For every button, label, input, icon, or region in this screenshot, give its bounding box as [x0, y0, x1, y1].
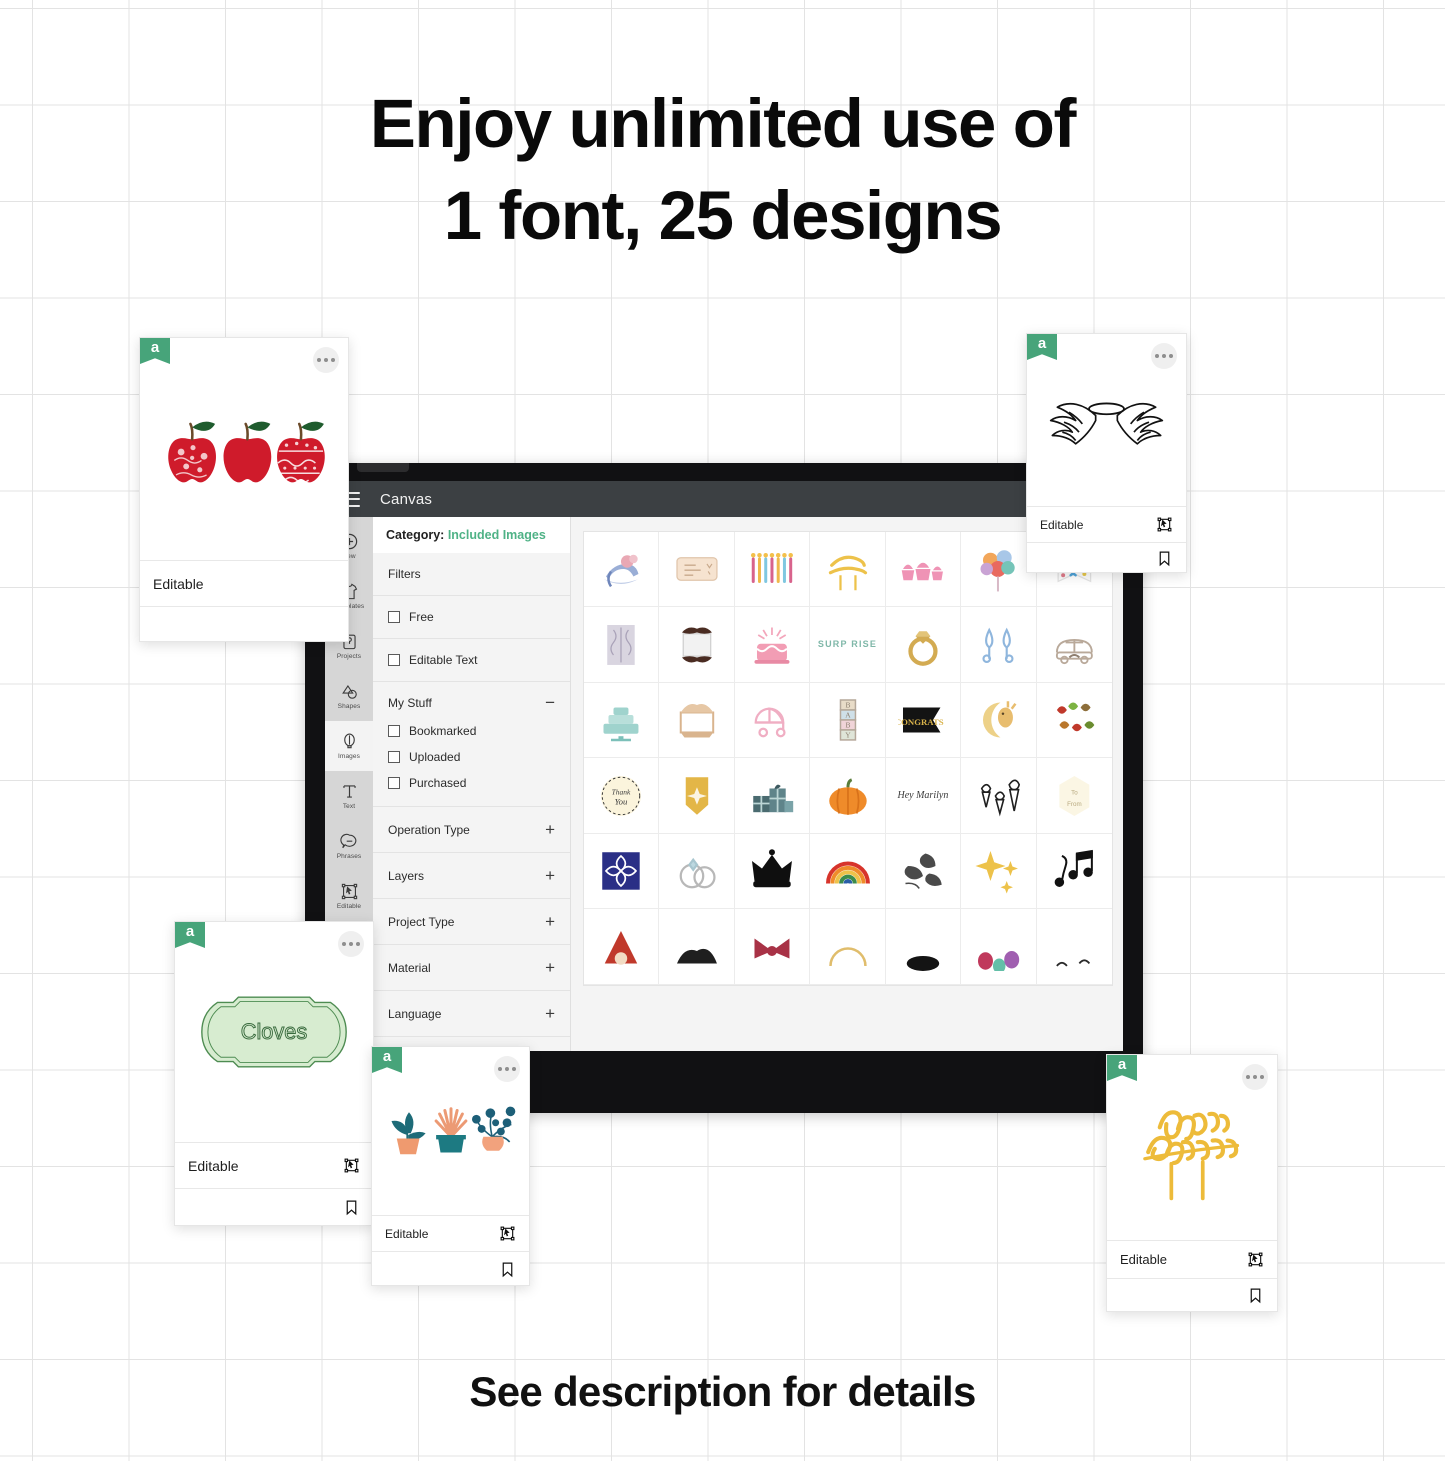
sidebar-item-phrases[interactable]: Phrases: [325, 821, 373, 871]
filters-title: Filters: [388, 567, 421, 581]
design-card-plants[interactable]: a: [371, 1046, 530, 1286]
three-apples-art: [140, 338, 348, 560]
checkbox-free[interactable]: [388, 611, 400, 623]
balloon-icon: [340, 732, 359, 751]
my-stuff-title: My Stuff: [388, 696, 432, 710]
sidebar-label: Images: [338, 753, 360, 760]
grid-item-cupcakes[interactable]: [886, 532, 961, 607]
card-options-icon[interactable]: [338, 931, 364, 957]
filter-label: Purchased: [409, 776, 466, 790]
sidebar-label: Projects: [337, 653, 361, 660]
sidebar-label: Phrases: [337, 853, 362, 860]
grid-item-tiered-cake[interactable]: [584, 683, 659, 758]
sidebar-label: Editable: [337, 903, 361, 910]
svg-text:CONGRATS: CONGRATS: [898, 717, 944, 727]
grid-item-happy-birthday-topper[interactable]: [810, 532, 885, 607]
grid-item-blue-damask[interactable]: [584, 834, 659, 909]
sidebar-label: Shapes: [338, 703, 361, 710]
grid-item-ornate-frame[interactable]: [659, 607, 734, 682]
sidebar-item-shapes[interactable]: Shapes: [325, 671, 373, 721]
svg-text:B: B: [845, 721, 850, 730]
editable-label: Editable: [1040, 518, 1083, 532]
checkbox-uploaded[interactable]: [388, 751, 400, 763]
grid-item-gift-boxes[interactable]: [735, 758, 810, 833]
card-bookmark-row[interactable]: [1027, 542, 1186, 573]
grid-item-ice-cream-cones[interactable]: [961, 758, 1036, 833]
card-bookmark-row[interactable]: [372, 1251, 529, 1286]
design-card-cloves[interactable]: a Cloves Editable: [174, 921, 374, 1226]
card-meta-row: Editable: [175, 1142, 373, 1188]
checkbox-editable-text[interactable]: [388, 654, 400, 666]
editable-label: Editable: [385, 1227, 428, 1241]
grid-item-thank-you-seal[interactable]: ThankYou: [584, 758, 659, 833]
editable-label: Editable: [1120, 1252, 1167, 1267]
grid-item-autumn-leaves[interactable]: [1037, 683, 1112, 758]
grid-item-red-bow[interactable]: [735, 909, 810, 984]
grid-item-to-from-tag[interactable]: ToFrom: [1037, 758, 1112, 833]
promo-canvas: Enjoy unlimited use of 1 font, 25 design…: [0, 0, 1445, 1461]
image-results-area: SURP RISE BABY CONGRATS ThankYou: [571, 517, 1123, 1051]
expand-toggle[interactable]: +: [545, 913, 555, 930]
section-material[interactable]: Material +: [373, 945, 570, 991]
filter-label: Bookmarked: [409, 724, 476, 738]
filter-uploaded[interactable]: Uploaded: [388, 744, 555, 770]
tablet-screen: Canvas New Templates Projects: [325, 481, 1123, 1051]
image-grid: SURP RISE BABY CONGRATS ThankYou: [583, 531, 1113, 986]
expand-toggle[interactable]: +: [545, 959, 555, 976]
section-label: Language: [388, 1007, 441, 1021]
filter-panel: Category: Included Images Filters Free E…: [373, 517, 571, 1051]
filter-purchased[interactable]: Purchased: [388, 770, 555, 796]
card-bookmark-row[interactable]: [175, 1188, 373, 1226]
grid-item-champagne-glasses[interactable]: [961, 607, 1036, 682]
grid-item-leaf-pair[interactable]: [886, 834, 961, 909]
grid-item-congrats-pennant[interactable]: CONGRATS: [886, 683, 961, 758]
section-label: Layers: [388, 869, 424, 883]
sidebar-item-editable[interactable]: Editable: [325, 871, 373, 921]
card-bookmark-row[interactable]: [1107, 1278, 1277, 1312]
category-bar: Category: Included Images: [373, 517, 570, 553]
grid-item-wedding-car[interactable]: [1037, 607, 1112, 682]
section-language[interactable]: Language +: [373, 991, 570, 1037]
grid-item-gift-tag[interactable]: [659, 532, 734, 607]
svg-text:Thank: Thank: [612, 787, 631, 796]
card-options-icon[interactable]: [1242, 1064, 1268, 1090]
category-label: Category:: [386, 528, 444, 542]
section-label: Material: [388, 961, 431, 975]
bookmark-icon[interactable]: [1156, 550, 1173, 567]
app-title: Canvas: [380, 491, 432, 508]
footer-text: See description for details: [0, 1368, 1445, 1416]
section-layers[interactable]: Layers +: [373, 853, 570, 899]
checkbox-purchased[interactable]: [388, 777, 400, 789]
grid-item-lace-panel[interactable]: [584, 607, 659, 682]
section-label: Project Type: [388, 915, 454, 929]
grid-item-baby-pram[interactable]: [735, 683, 810, 758]
editable-nodes-icon[interactable]: [499, 1225, 516, 1242]
grid-item-dark-floral[interactable]: [659, 909, 734, 984]
grid-item-surprise-letters[interactable]: SURP RISE: [810, 607, 885, 682]
grid-item-giraffe-moon[interactable]: [961, 683, 1036, 758]
grid-item-rainbow[interactable]: [810, 834, 885, 909]
card-options-icon[interactable]: [494, 1056, 520, 1082]
design-card-happy-birthday[interactable]: a: [1106, 1054, 1278, 1312]
grid-item-party-balloons[interactable]: [961, 909, 1036, 984]
svg-text:A: A: [845, 711, 851, 720]
grid-item-gold-arch[interactable]: [810, 909, 885, 984]
svg-text:From: From: [1067, 801, 1082, 808]
sidebar-item-text[interactable]: Text: [325, 771, 373, 821]
grid-item-birthday-cake[interactable]: [735, 607, 810, 682]
grid-item-black-brush[interactable]: [886, 909, 961, 984]
grid-item-birthday-candles[interactable]: [735, 532, 810, 607]
tablet-camera-notch: [357, 463, 409, 472]
filter-free[interactable]: Free: [373, 596, 570, 639]
expand-toggle[interactable]: +: [545, 867, 555, 884]
filters-title-row: Filters: [373, 553, 570, 596]
grid-item-hey-marilyn-script[interactable]: Hey Marilyn: [886, 758, 961, 833]
grid-item-bird-pair[interactable]: [1037, 909, 1112, 984]
collapse-toggle[interactable]: −: [545, 694, 555, 711]
card-meta-row: Editable: [1107, 1240, 1277, 1278]
expand-toggle[interactable]: +: [545, 821, 555, 838]
my-stuff-group: My Stuff − Bookmarked Uploaded Purchased: [373, 682, 570, 807]
card-meta-row: Editable: [140, 560, 348, 606]
design-card-apples[interactable]: a: [139, 337, 349, 642]
grid-item-music-notes[interactable]: [1037, 834, 1112, 909]
page-title: Enjoy unlimited use of 1 font, 25 design…: [0, 78, 1445, 262]
text-t-icon: [340, 782, 359, 801]
editable-nodes-icon[interactable]: [1156, 516, 1173, 533]
sidebar-item-images[interactable]: Images: [325, 721, 373, 771]
grid-item-label: SURP RISE: [818, 640, 877, 649]
grid-item-sparkle-stars[interactable]: [961, 834, 1036, 909]
filter-label: Free: [409, 610, 434, 624]
bookmark-icon[interactable]: [1247, 1287, 1264, 1304]
grid-item-pumpkin[interactable]: [810, 758, 885, 833]
filter-editable-text[interactable]: Editable Text: [373, 639, 570, 682]
svg-text:To: To: [1071, 789, 1078, 796]
editable-nodes-icon[interactable]: [343, 1157, 360, 1174]
card-options-icon[interactable]: [1151, 343, 1177, 369]
grid-item-scroll-frame[interactable]: [659, 683, 734, 758]
section-project-type[interactable]: Project Type +: [373, 899, 570, 945]
grid-item-crown[interactable]: [735, 834, 810, 909]
grid-item-baby-blocks[interactable]: BABY: [810, 683, 885, 758]
tablet-device: Canvas New Templates Projects: [305, 463, 1143, 1113]
card-meta-row: Editable: [1027, 506, 1186, 542]
card-bookmark-row[interactable]: [140, 606, 348, 642]
sidebar-label: Text: [343, 803, 355, 810]
filter-bookmarked[interactable]: Bookmarked: [388, 718, 555, 744]
section-operation-type[interactable]: Operation Type +: [373, 807, 570, 853]
design-card-wings[interactable]: a Editable: [1026, 333, 1187, 573]
grid-item-gold-star-banner[interactable]: [659, 758, 734, 833]
grid-item-wedding-rings[interactable]: [659, 834, 734, 909]
editable-label: Editable: [153, 576, 204, 592]
editable-label: Editable: [188, 1158, 239, 1174]
grid-item-gnome[interactable]: [584, 909, 659, 984]
card-options-icon[interactable]: [313, 347, 339, 373]
shapes-icon: [340, 682, 359, 701]
bookmark-icon[interactable]: [499, 1261, 516, 1278]
grid-item-label: Hey Marilyn: [898, 791, 949, 801]
app-topbar: Canvas: [325, 481, 1123, 517]
editable-nodes-icon[interactable]: [1247, 1251, 1264, 1268]
category-value[interactable]: Included Images: [448, 528, 546, 542]
svg-text:Y: Y: [845, 731, 851, 740]
svg-text:You: You: [615, 796, 628, 806]
grid-item-rocking-horse[interactable]: [584, 532, 659, 607]
expand-toggle[interactable]: +: [545, 1005, 555, 1022]
filter-label: Uploaded: [409, 750, 460, 764]
bookmark-icon[interactable]: [343, 1199, 360, 1216]
section-label: Operation Type: [388, 823, 470, 837]
editable-nodes-icon: [340, 882, 359, 901]
card-meta-row: Editable: [372, 1215, 529, 1251]
svg-text:B: B: [845, 701, 850, 710]
checkbox-bookmarked[interactable]: [388, 725, 400, 737]
filter-label: Editable Text: [409, 653, 478, 667]
speech-bubble-icon: [340, 832, 359, 851]
grid-item-diamond-ring[interactable]: [886, 607, 961, 682]
svg-text:Cloves: Cloves: [241, 1019, 308, 1044]
